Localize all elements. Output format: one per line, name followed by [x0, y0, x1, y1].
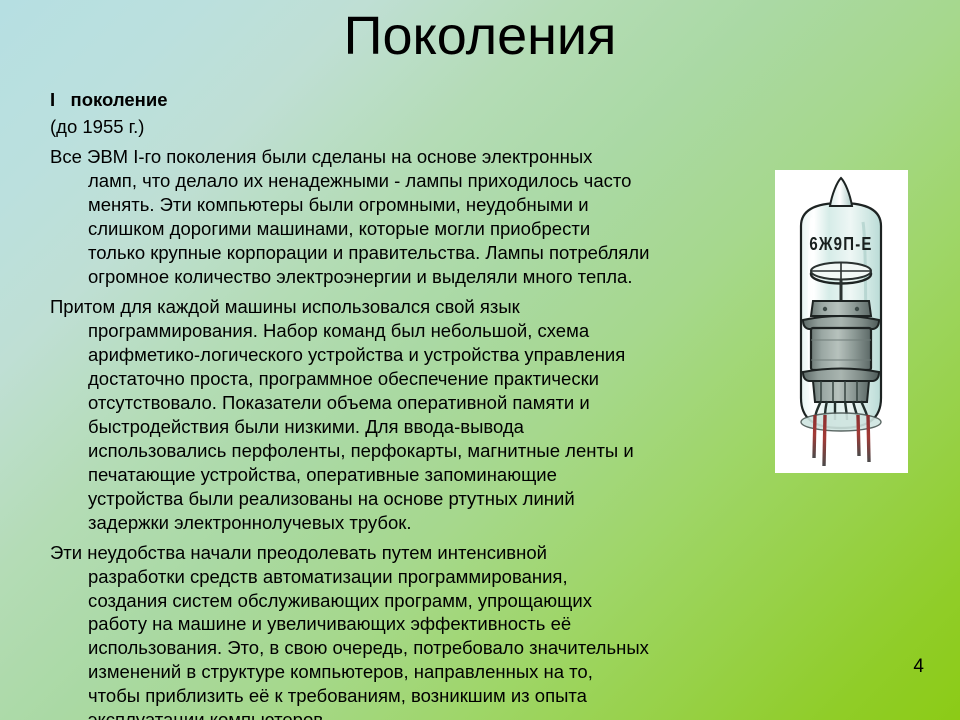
paragraph-1-line-2: ламп, что делало их ненадежными - лампы … [88, 169, 754, 193]
paragraph-2-line-3: арифметико-логического устройства и устр… [88, 343, 754, 367]
paragraph-3-line-6: изменений в структуре компьютеров, напра… [88, 660, 754, 684]
paragraph-2-line-10: задержки электроннолучевых трубок. [88, 511, 754, 535]
page-number: 4 [913, 656, 924, 678]
generation-heading: I поколение [50, 88, 754, 112]
evacuation-tip [830, 178, 852, 206]
paragraph-3-line-1: Эти неудобства начали преодолевать путем… [50, 541, 754, 565]
paragraph-3: Эти неудобства начали преодолевать путем… [50, 541, 754, 720]
top-mica-plate [811, 301, 871, 316]
paragraph-2-line-5: отсутствовало. Показатели объема операти… [88, 391, 754, 415]
paragraph-2-line-1: Притом для каждой машины использовался с… [50, 295, 754, 319]
paragraph-3-line-5: использования. Это, в свою очередь, потр… [88, 636, 754, 660]
content-text-column: I поколение (до 1955 г.) Все ЭВМ I-го по… [50, 88, 754, 720]
paragraph-1-line-6: огромное количество электроэнергии и выд… [88, 265, 754, 289]
anode-box [811, 328, 871, 370]
paragraph-3-line-4: работу на машине и увеличивающих эффекти… [88, 612, 754, 636]
lower-clamp-ring [803, 369, 879, 382]
paragraph-3-line-7: чтобы приблизить её к требованиям, возни… [88, 684, 754, 708]
paragraph-1-line-3: менять. Эти компьютеры были огромными, н… [88, 193, 754, 217]
paragraph-3-line-8: эксплуатации компьютеров. [88, 708, 754, 720]
paragraph-2: Притом для каждой машины использовался с… [50, 295, 754, 535]
paragraph-2-line-7: использовались перфоленты, перфокарты, м… [88, 439, 754, 463]
generation-date-range: (до 1955 г.) [50, 115, 754, 139]
tube-type-label: 6Ж9П-Е [809, 233, 872, 254]
paragraph-1-line-1: Все ЭВМ I-го поколения были сделаны на о… [50, 145, 754, 169]
paragraph-2-line-6: быстродействия были низкими. Для ввода-в… [88, 415, 754, 439]
vacuum-tube-image: 6Ж9П-Е [775, 170, 908, 473]
paragraph-1-line-5: только крупные корпорации и правительств… [88, 241, 754, 265]
page-title: Поколения [0, 8, 960, 65]
mica-hole-left [823, 307, 827, 311]
paragraph-3-line-3: создания систем обслуживающих программ, … [88, 589, 754, 613]
paragraph-3-line-2: разработки средств автоматизации програм… [88, 565, 754, 589]
paragraph-1-line-4: слишком дорогими машинами, которые могли… [88, 217, 754, 241]
paragraph-2-line-9: устройства были реализованы на основе рт… [88, 487, 754, 511]
mica-hole-right [855, 307, 859, 311]
paragraph-2-line-2: программирования. Набор команд был небол… [88, 319, 754, 343]
paragraph-2-line-4: достаточно проста, программное обеспечен… [88, 367, 754, 391]
slide-canvas: Поколения I поколение (до 1955 г.) Все Э… [0, 0, 960, 720]
paragraph-2-line-8: печатающие устройства, оперативные запом… [88, 463, 754, 487]
vacuum-tube-drawing: 6Ж9П-Е [775, 170, 908, 473]
paragraph-1: Все ЭВМ I-го поколения были сделаны на о… [50, 145, 754, 289]
